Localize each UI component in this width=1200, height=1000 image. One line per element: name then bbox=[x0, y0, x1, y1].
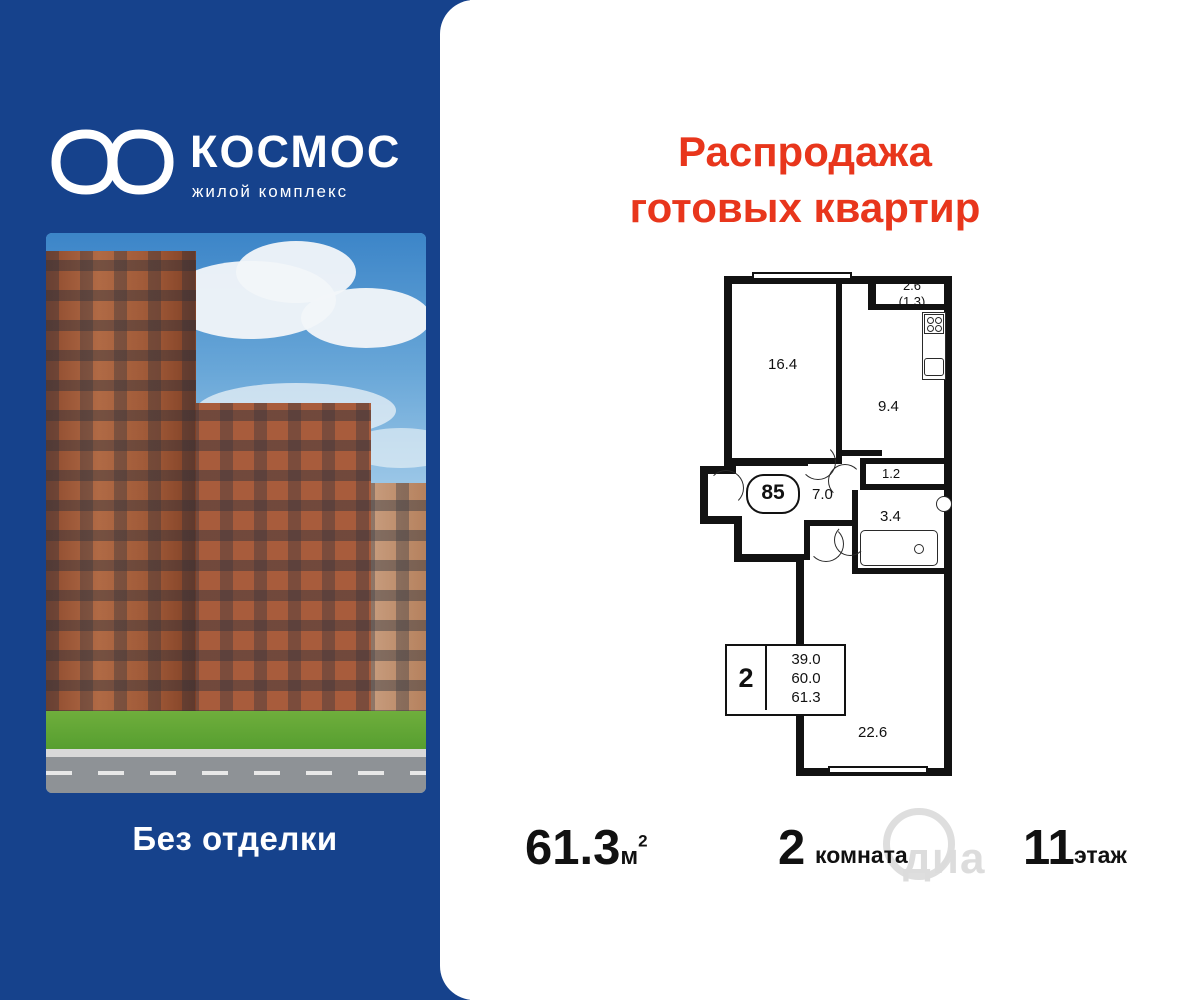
summary-floor-label: этаж bbox=[1074, 842, 1127, 869]
legend-rooms-count: 2 bbox=[727, 646, 765, 710]
hob-burner-icon bbox=[935, 317, 942, 324]
room-area-living: 16.4 bbox=[768, 356, 797, 373]
room-area-wardrobe: 1.2 bbox=[882, 466, 900, 481]
room-area-kitchen: 9.4 bbox=[878, 398, 899, 415]
balcony-area-reduced: (1.3) bbox=[899, 294, 926, 309]
window-grid bbox=[362, 483, 426, 721]
building-block-center bbox=[186, 403, 371, 721]
headline-line-2: готовых квартир bbox=[440, 180, 1170, 236]
wall-wardrobe-bottom bbox=[860, 484, 952, 490]
building-photo bbox=[46, 233, 426, 793]
summary-bar: 61.3м2 2 комната 11 этаж bbox=[470, 812, 1170, 892]
summary-area: 61.3м2 bbox=[525, 820, 648, 876]
window-living bbox=[752, 272, 852, 280]
balcony-area-value: 2.6 bbox=[903, 278, 921, 293]
plan-legend: 2 39.0 60.0 61.3 bbox=[725, 644, 846, 716]
finish-caption: Без отделки bbox=[0, 820, 470, 858]
window-grid bbox=[46, 251, 196, 721]
room-area-hall: 7.0 bbox=[812, 486, 833, 503]
building-block-left bbox=[46, 251, 196, 721]
summary-area-unit: м bbox=[620, 843, 638, 870]
legend-area-total: 61.3 bbox=[771, 688, 841, 707]
road bbox=[46, 757, 426, 793]
room-area-bedroom: 22.6 bbox=[858, 724, 887, 741]
legend-area-total-no-balcony: 60.0 bbox=[771, 669, 841, 688]
headline-line-1: Распродажа bbox=[440, 124, 1170, 180]
summary-floor-value: 11 bbox=[1023, 820, 1075, 876]
wall-kitchen-bottom bbox=[860, 458, 952, 464]
legend-areas: 39.0 60.0 61.3 bbox=[771, 650, 841, 707]
kitchen-sink bbox=[924, 358, 944, 376]
wall-bath-bottom bbox=[852, 568, 952, 574]
balcony-wall-left bbox=[868, 276, 876, 304]
road-marking bbox=[46, 771, 426, 775]
legend-area-living: 39.0 bbox=[771, 650, 841, 669]
wall-living-kitchen bbox=[836, 284, 842, 464]
washbasin bbox=[936, 496, 952, 512]
infinity-loop-icon bbox=[50, 126, 175, 198]
bathtub bbox=[860, 530, 938, 566]
door-bedroom-icon bbox=[808, 526, 844, 562]
summary-area-unit-sup: 2 bbox=[638, 832, 647, 851]
summary-area-value: 61.3 bbox=[525, 821, 620, 875]
hob-burner-icon bbox=[927, 317, 934, 324]
legend-divider bbox=[765, 646, 767, 710]
hob-burner-icon bbox=[927, 325, 934, 332]
balcony-area: 2.6 (1.3) bbox=[876, 278, 948, 310]
summary-rooms-value: 2 bbox=[778, 820, 805, 876]
kitchen-hob bbox=[924, 314, 944, 334]
poster-root: КОСМОС жилой комплекс Б bbox=[0, 0, 1200, 1000]
window-bedroom bbox=[828, 766, 928, 774]
room-area-bathroom: 3.4 bbox=[880, 508, 901, 525]
cloud-shape bbox=[301, 288, 426, 348]
left-blue-panel: КОСМОС жилой комплекс Б bbox=[0, 0, 470, 1000]
summary-rooms-label: комната bbox=[815, 842, 908, 869]
flat-number-badge: 85 bbox=[746, 474, 800, 514]
building-block-right bbox=[362, 483, 426, 721]
brand-block: КОСМОС жилой комплекс bbox=[50, 120, 440, 210]
wall-left-step-3 bbox=[734, 554, 804, 562]
wall-living-bottom bbox=[836, 450, 882, 456]
floor-plan: 2.6 (1.3) bbox=[700, 268, 960, 788]
wall-left-upper bbox=[724, 276, 732, 466]
headline: Распродажа готовых квартир bbox=[440, 124, 1170, 236]
door-kitchen-icon bbox=[828, 464, 862, 498]
hob-burner-icon bbox=[935, 325, 942, 332]
floor-drain-icon bbox=[914, 544, 924, 554]
door-entrance-icon bbox=[708, 470, 744, 506]
window-grid bbox=[186, 403, 371, 721]
